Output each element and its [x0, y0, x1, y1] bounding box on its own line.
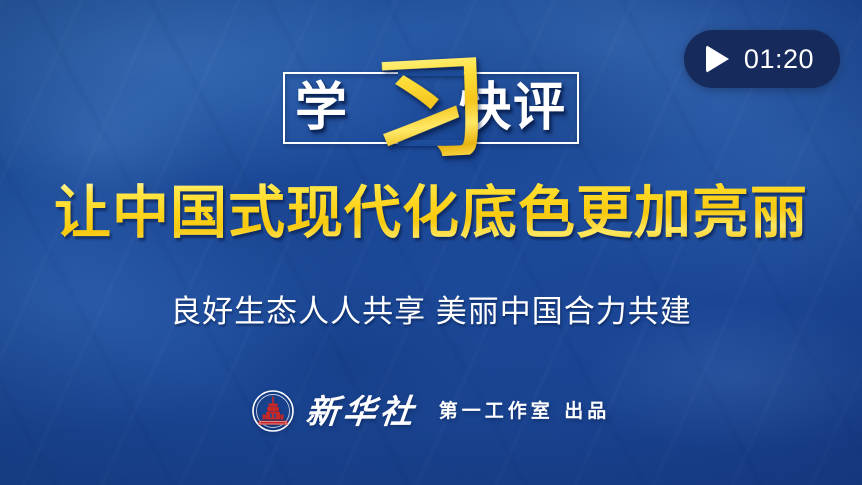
page-title: 让中国式现代化底色更加亮丽 [0, 183, 862, 243]
xinhua-tower-emblem [252, 390, 294, 432]
credit-bar: 新华社 第一工作室 出品 [0, 390, 862, 432]
studio-credit: 第一工作室 出品 [439, 402, 611, 421]
program-logo-chars-after: 快评 [459, 82, 567, 134]
subtitle: 良好生态人人共享 美丽中国合力共建 [0, 293, 862, 330]
program-logo: 学 快评 习 [0, 48, 862, 168]
program-logo-frame: 学 快评 习 [283, 72, 579, 144]
program-logo-char-before: 学 [295, 82, 347, 134]
xinhua-wordmark: 新华社 [304, 395, 422, 428]
frame-gap-bottom [398, 140, 464, 146]
frame-gap-top [398, 70, 464, 76]
video-poster-frame: 01:20 学 快评 习 让中国式现代化底色更加亮丽 良好生态人人共享 美丽中国… [0, 0, 862, 485]
